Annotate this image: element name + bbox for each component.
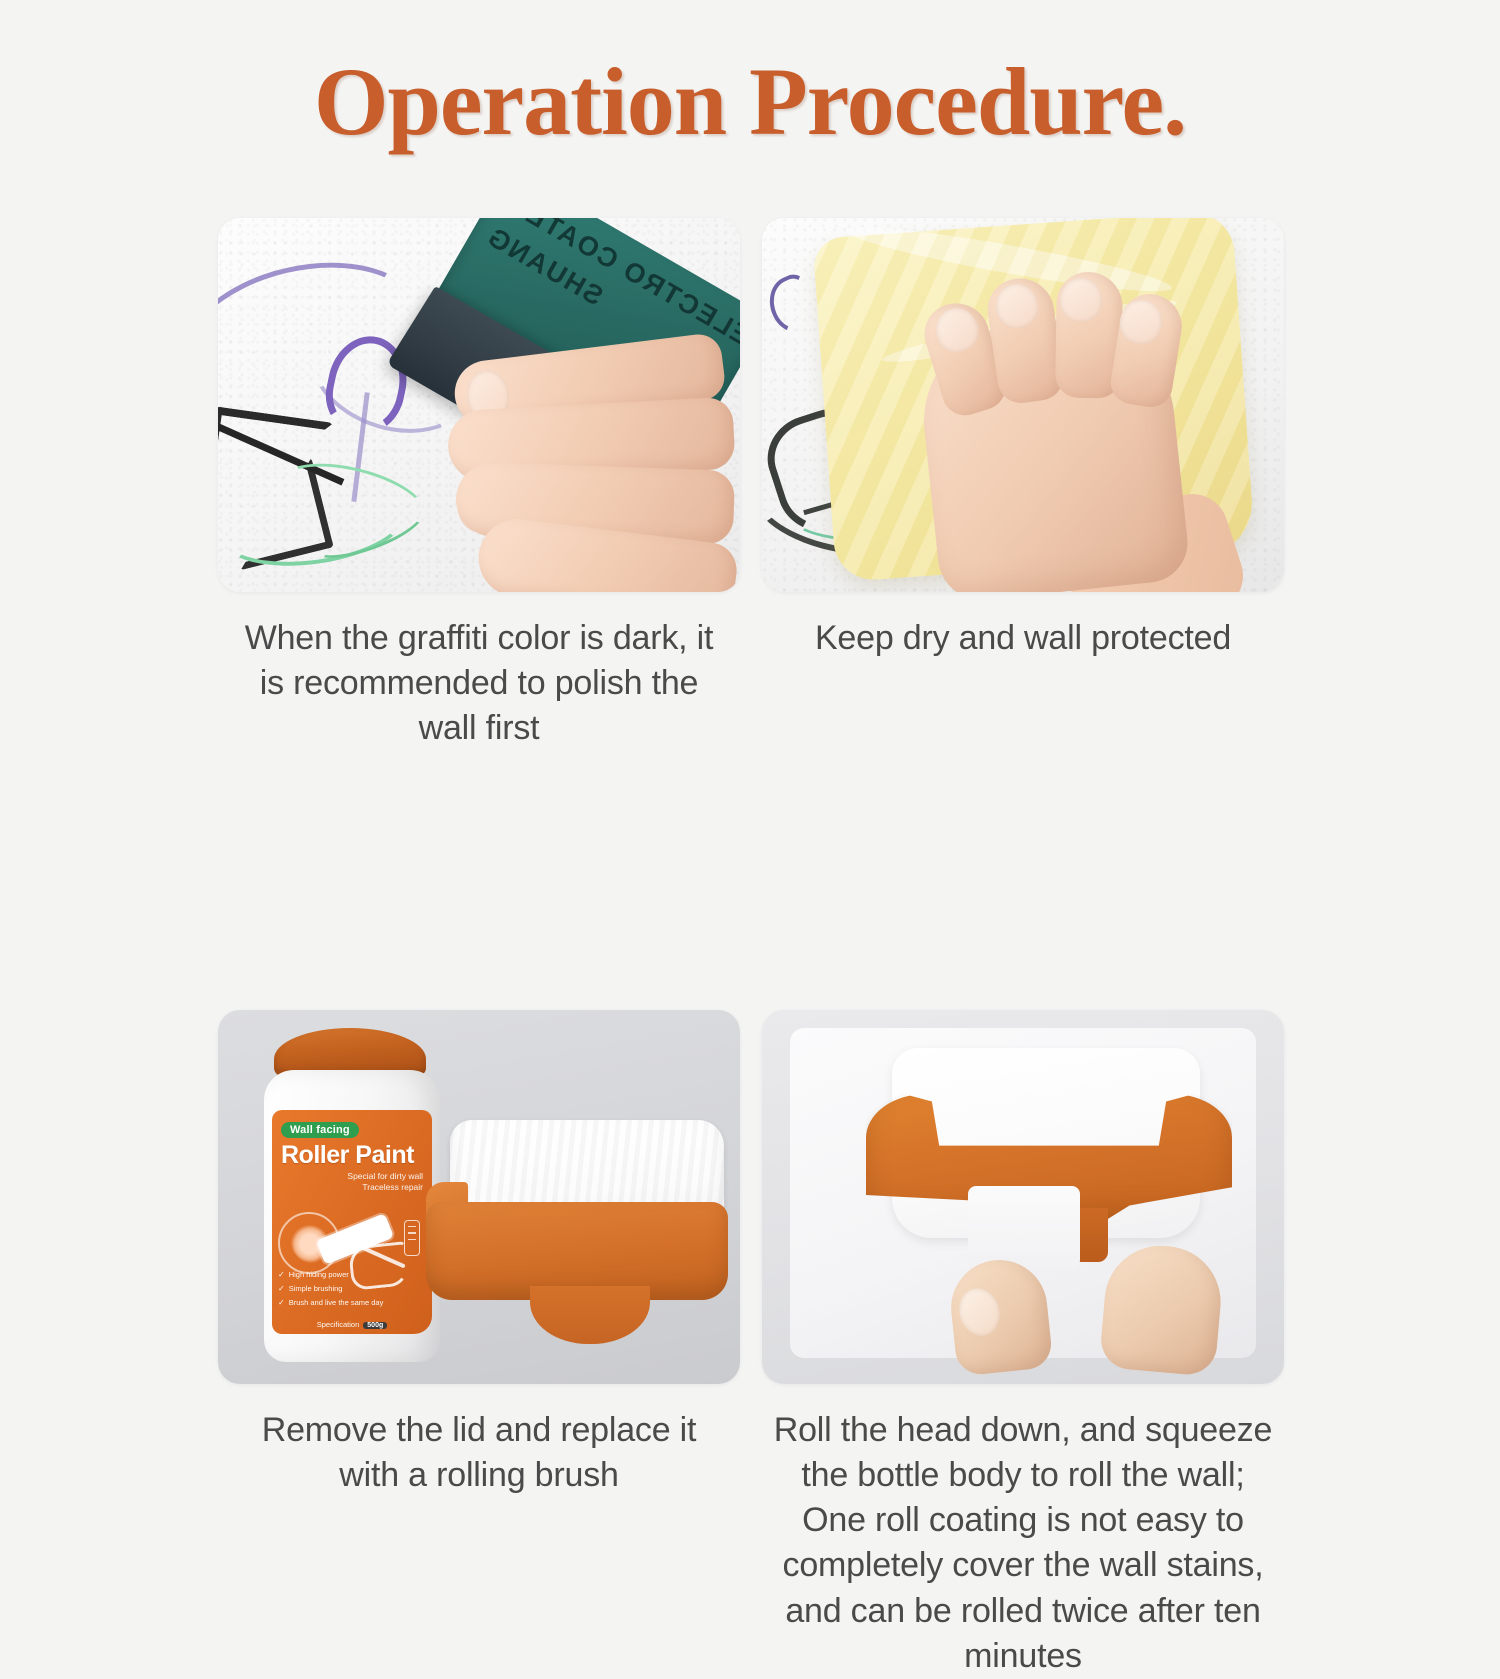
- tube-icon: [404, 1220, 420, 1256]
- step-caption: When the graffiti color is dark, it is r…: [218, 616, 740, 752]
- step-caption: Keep dry and wall protected: [762, 616, 1284, 661]
- roller-orange-housing: [426, 1202, 728, 1300]
- label-feature-list: High hiding power Simple brushing Brush …: [278, 1268, 383, 1310]
- label-product-name: Roller Paint: [281, 1142, 423, 1168]
- step-caption: Roll the head down, and squeeze the bott…: [762, 1408, 1284, 1679]
- label-feature-item: High hiding power: [278, 1268, 383, 1282]
- roller-neck-connector: [530, 1286, 650, 1344]
- yellow-cloth-wiping-wall-photo: [762, 218, 1284, 592]
- finger: [946, 1255, 1053, 1376]
- step-roll-wall: Roll the head down, and squeeze the bott…: [762, 1010, 1284, 1679]
- finger: [1099, 1241, 1226, 1377]
- label-specification: Specification500g: [272, 1320, 432, 1329]
- fingernail: [1060, 278, 1103, 323]
- page-title: Operation Procedure.: [0, 46, 1500, 157]
- label-specification-text: Specification: [317, 1320, 360, 1329]
- roller-brush-head: [426, 1120, 728, 1340]
- rolling-brush-on-wall-photo: [762, 1010, 1284, 1384]
- label-badge: Wall facing: [281, 1122, 359, 1138]
- hand-squeezing-bottle: [952, 1242, 1220, 1372]
- sanding-sponge-on-graffiti-wall-photo: ELECTRO COATED SHUANG: [218, 218, 740, 592]
- label-subtitle-line-1: Special for dirty wall: [281, 1171, 423, 1182]
- roller-paint-bottle-and-brush-photo: Wall facing Roller Paint Special for dir…: [218, 1010, 740, 1384]
- step-polish-wall: ELECTRO COATED SHUANG When the graffiti …: [218, 218, 740, 752]
- label-subtitle-line-2: Traceless repair: [281, 1182, 423, 1193]
- fingernail: [954, 1283, 1006, 1340]
- bottle-label: Wall facing Roller Paint Special for dir…: [272, 1110, 432, 1334]
- step-caption: Remove the lid and replace it with a rol…: [218, 1408, 740, 1498]
- label-feature-item: Brush and live the same day: [278, 1296, 383, 1310]
- hand-wiping-wall: [890, 258, 1220, 592]
- roller-paint-bottle: Wall facing Roller Paint Special for dir…: [258, 1028, 448, 1362]
- step-replace-lid: Wall facing Roller Paint Special for dir…: [218, 1010, 740, 1679]
- label-feature-item: Simple brushing: [278, 1282, 383, 1296]
- label-specification-value: 500g: [363, 1322, 387, 1329]
- label-subtitle: Special for dirty wall Traceless repair: [281, 1171, 423, 1194]
- procedure-steps-grid: ELECTRO COATED SHUANG When the graffiti …: [218, 218, 1284, 1679]
- hand-holding-sponge: [444, 342, 740, 592]
- step-keep-dry: Keep dry and wall protected: [762, 218, 1284, 752]
